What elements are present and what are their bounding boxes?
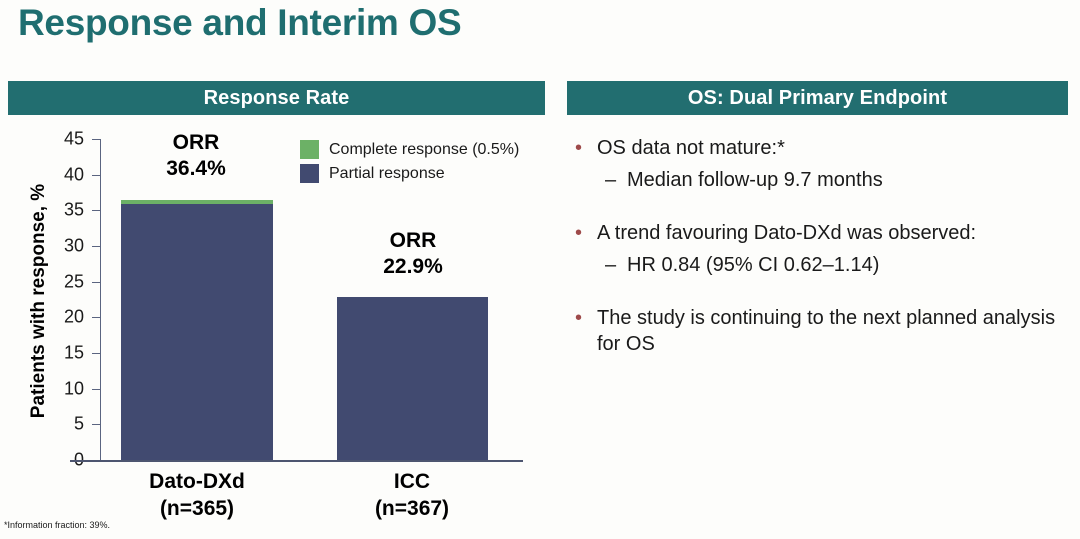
- y-axis-tick: [92, 317, 100, 318]
- y-axis-tick: [92, 282, 100, 283]
- footnote: *Information fraction: 39%.: [4, 520, 110, 530]
- bullet-spacer: [575, 285, 1075, 305]
- bullet-dash-icon: –: [605, 167, 627, 193]
- y-axis-tick-label: 5: [46, 414, 84, 435]
- response-rate-panel-header: Response Rate: [8, 81, 545, 115]
- y-axis-tick: [92, 139, 100, 140]
- bullet-item: •The study is continuing to the next pla…: [575, 305, 1075, 358]
- bullet-text: The study is continuing to the next plan…: [597, 305, 1075, 358]
- y-axis-tick-label: 45: [46, 129, 84, 150]
- y-axis-tick: [92, 210, 100, 211]
- y-axis-tick-label: 35: [46, 200, 84, 221]
- sub-bullet-item: –HR 0.84 (95% CI 0.62–1.14): [575, 252, 1075, 278]
- y-axis-tick-labels: 051015202530354045: [46, 118, 84, 460]
- page-title: Response and Interim OS: [18, 2, 461, 44]
- legend-swatch: [300, 164, 319, 183]
- os-panel-header-label: OS: Dual Primary Endpoint: [688, 87, 947, 110]
- bullet-text: HR 0.84 (95% CI 0.62–1.14): [627, 252, 879, 278]
- y-axis-tick-label: 10: [46, 378, 84, 399]
- sub-bullet-item: –Median follow-up 9.7 months: [575, 167, 1075, 193]
- y-axis-tick: [92, 175, 100, 176]
- bullet-text: A trend favouring Dato-DXd was observed:: [597, 220, 976, 246]
- bullet-dot-icon: •: [575, 220, 597, 246]
- bullet-dash-icon: –: [605, 252, 627, 278]
- orr-annotation-icc-label: ORR: [333, 228, 493, 254]
- x-axis-category-icc-n: (n=367): [317, 495, 507, 522]
- os-bullet-list: •OS data not mature:*–Median follow-up 9…: [575, 135, 1075, 363]
- y-axis-tick: [92, 424, 100, 425]
- bullet-dot-icon: •: [575, 305, 597, 358]
- bullet-item: •A trend favouring Dato-DXd was observed…: [575, 220, 1075, 246]
- orr-annotation-dato-dxd-value: 36.4%: [116, 156, 276, 182]
- chart-legend: Complete response (0.5%)Partial response: [300, 140, 519, 188]
- bullet-text: OS data not mature:*: [597, 135, 785, 161]
- y-axis-tick-label: 15: [46, 343, 84, 364]
- orr-annotation-dato-dxd: ORR 36.4%: [116, 130, 276, 181]
- orr-annotation-icc-value: 22.9%: [333, 254, 493, 280]
- bar-icc: [337, 297, 488, 460]
- legend-swatch: [300, 140, 319, 159]
- y-axis-tick: [92, 246, 100, 247]
- os-panel-header: OS: Dual Primary Endpoint: [567, 81, 1068, 115]
- y-axis-tick-label: 20: [46, 307, 84, 328]
- legend-label: Partial response: [329, 165, 445, 183]
- orr-annotation-icc: ORR 22.9%: [333, 228, 493, 279]
- y-axis-tick: [92, 389, 100, 390]
- legend-item: Complete response (0.5%): [300, 140, 519, 159]
- bar-dato-dxd: [121, 200, 273, 460]
- x-axis-category-dato-dxd: Dato-DXd (n=365): [101, 468, 293, 523]
- legend-label: Complete response (0.5%): [329, 141, 519, 159]
- x-axis-category-icc: ICC (n=367): [317, 468, 507, 523]
- bullet-item: •OS data not mature:*: [575, 135, 1075, 161]
- x-axis-category-dato-dxd-n: (n=365): [101, 495, 293, 522]
- x-axis-category-dato-dxd-name: Dato-DXd: [101, 468, 293, 495]
- bullet-spacer: [575, 200, 1075, 220]
- bullet-text: Median follow-up 9.7 months: [627, 167, 883, 193]
- response-rate-bar-chart: Patients with response, % 05101520253035…: [0, 118, 556, 539]
- response-rate-panel-header-label: Response Rate: [204, 87, 350, 110]
- y-axis-tick-label: 25: [46, 271, 84, 292]
- orr-annotation-dato-dxd-label: ORR: [116, 130, 276, 156]
- bar-segment-complete-response: [121, 200, 273, 204]
- legend-item: Partial response: [300, 164, 519, 183]
- y-axis-tick-label: 30: [46, 236, 84, 257]
- bullet-dot-icon: •: [575, 135, 597, 161]
- x-axis-category-icc-name: ICC: [317, 468, 507, 495]
- y-axis-tick: [92, 353, 100, 354]
- y-axis-tick-label: 40: [46, 164, 84, 185]
- x-axis-line: [70, 460, 523, 462]
